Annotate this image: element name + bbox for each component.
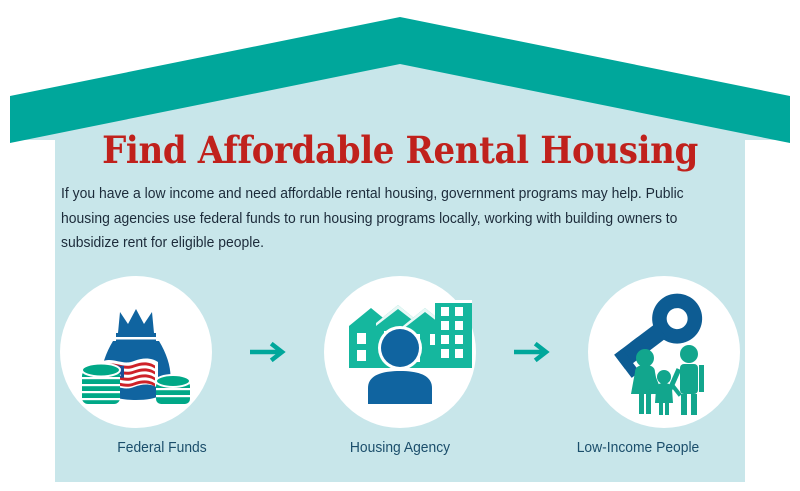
flow-label-federal-funds: Federal Funds xyxy=(65,440,259,456)
arrow-right-icon xyxy=(242,337,294,367)
flow-step-federal-funds[interactable] xyxy=(60,276,212,428)
key-with-family-icon xyxy=(588,276,740,428)
intro-paragraph: If you have a low income and need afford… xyxy=(61,182,714,256)
flow-label-housing-agency: Housing Agency xyxy=(303,440,497,456)
apartment-block xyxy=(435,300,472,368)
coin-stack-left xyxy=(82,364,120,405)
coin-stack-right xyxy=(156,375,190,404)
family-man xyxy=(668,345,704,415)
flow-labels: Federal Funds Housing Agency Low-Income … xyxy=(60,440,740,464)
content-layer: Find Affordable Rental Housing If you ha… xyxy=(0,0,800,491)
flow-step-housing-agency[interactable] xyxy=(324,276,476,428)
buildings-with-person-icon xyxy=(324,276,476,428)
money-bag-neck-stripe xyxy=(116,337,156,340)
flow-step-low-income-people[interactable] xyxy=(588,276,740,428)
flow-label-low-income-people: Low-Income People xyxy=(541,440,735,456)
flow-arrow-1 xyxy=(242,337,294,367)
infographic-root: Find Affordable Rental Housing If you ha… xyxy=(0,0,800,491)
flow-diagram xyxy=(60,272,740,432)
money-bag-top-ruffle xyxy=(118,309,154,333)
money-bag-with-flag-and-coins-icon xyxy=(60,276,212,428)
arrow-right-icon xyxy=(506,337,558,367)
page-title: Find Affordable Rental Housing xyxy=(32,128,768,172)
flow-arrow-2 xyxy=(506,337,558,367)
